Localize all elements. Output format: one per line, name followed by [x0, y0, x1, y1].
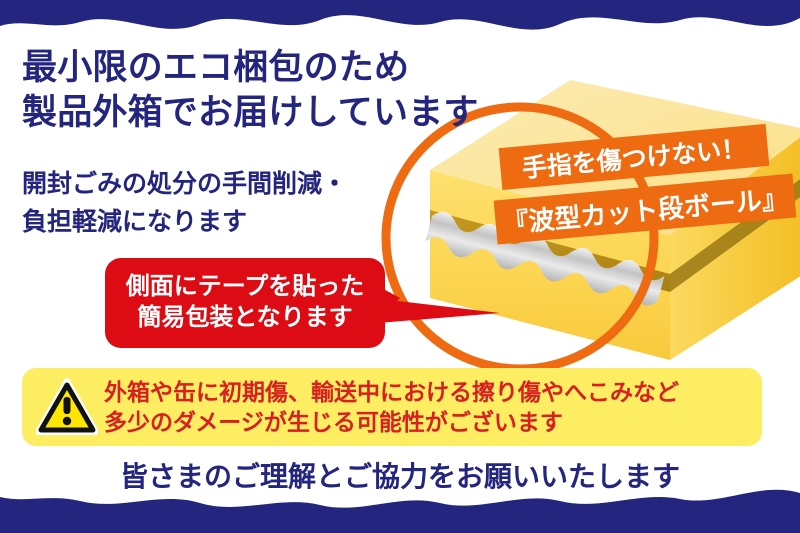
caution-line-2: 多少のダメージが生じる可能性がございます: [104, 407, 679, 437]
subheadline: 開封ごみの処分の手間削減・ 負担軽減になります: [22, 166, 422, 241]
subheadline-line-1-text: 開封ごみの処分の手間削減・: [22, 170, 347, 198]
warning-triangle-icon: [36, 378, 98, 436]
red-callout-line-1: 側面にテープを貼った: [126, 272, 365, 303]
subheadline-line-2: 負担軽減になります: [22, 204, 247, 242]
red-callout-bubble: 側面にテープを貼った 簡易包装となります: [105, 258, 385, 348]
poster-root: 最小限のエコ梱包のため 製品外箱でお届けしています 開封ごみの処分の手間削減・ …: [0, 0, 800, 533]
headline-line-1: 最小限のエコ梱包のため: [22, 46, 542, 91]
caution-line-1: 外箱や缶に初期傷、輸送中における擦り傷やへこみなど: [104, 377, 679, 407]
caution-panel: 外箱や缶に初期傷、輸送中における擦り傷やへこみなど 多少のダメージが生じる可能性…: [22, 368, 762, 446]
wave-decoration-top: [0, 0, 800, 46]
subheadline-line-2-text: 負担軽減になります: [22, 208, 247, 236]
subheadline-line-1: 開封ごみの処分の手間削減・: [22, 166, 347, 204]
headline: 最小限のエコ梱包のため 製品外箱でお届けしています: [22, 46, 542, 136]
red-callout-line-2: 簡易包装となります: [137, 303, 352, 334]
red-callout-tail: [378, 286, 400, 320]
headline-line-2: 製品外箱でお届けしています: [22, 91, 542, 136]
closing-message: 皆さまのご理解とご協力をお願いいたします: [0, 455, 800, 495]
caution-text: 外箱や缶に初期傷、輸送中における擦り傷やへこみなど 多少のダメージが生じる可能性…: [104, 377, 679, 438]
